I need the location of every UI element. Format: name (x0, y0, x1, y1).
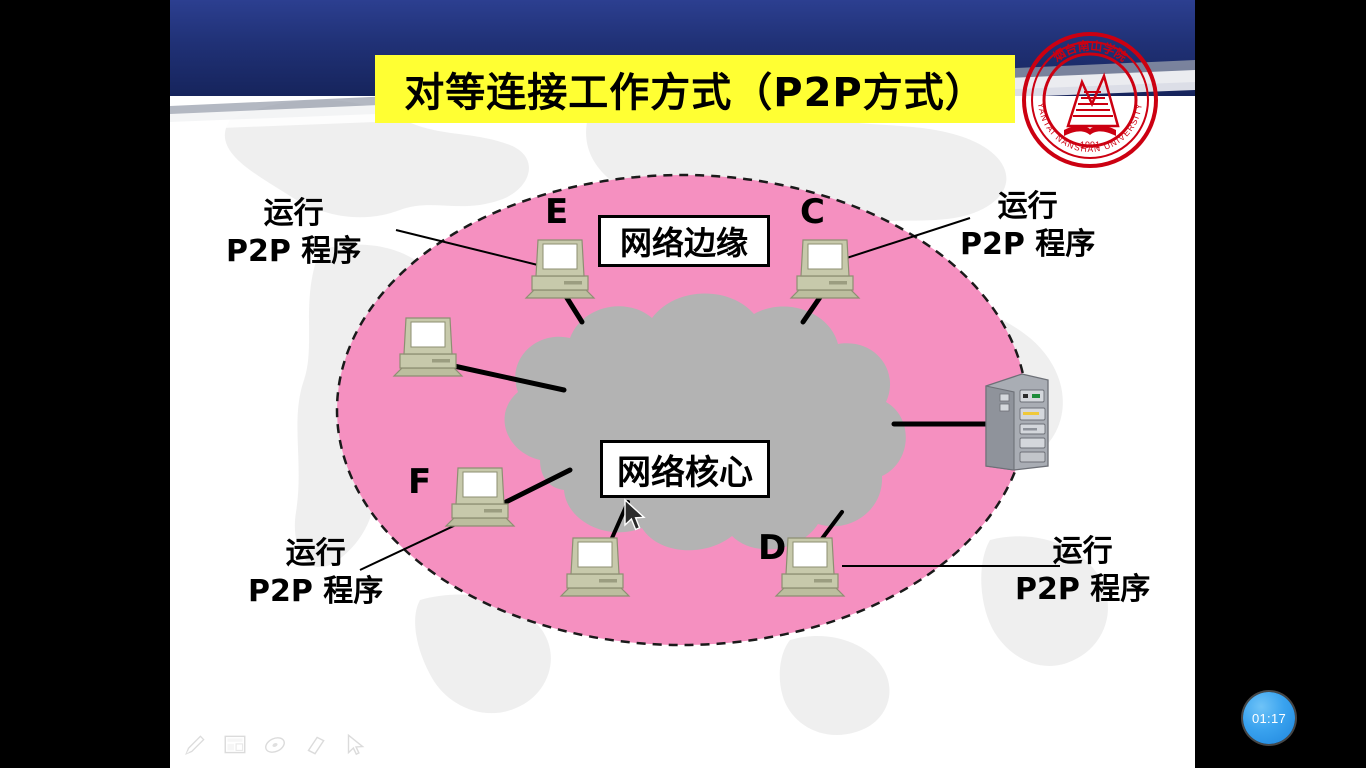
mouse-cursor-icon (622, 498, 648, 534)
callout-line-1: 运行 (960, 188, 1095, 226)
node-label-c: C (800, 192, 825, 232)
callout-line-1: 运行 (226, 195, 361, 233)
pen-icon[interactable] (180, 730, 210, 760)
presentation-slide: 对等连接工作方式（P2P方式） 1991 烟台南山学院 YANTAI NANSH… (170, 0, 1195, 768)
node-label-d: D (758, 528, 786, 568)
timer-value: 01:17 (1252, 711, 1286, 726)
callout-line-2: P2P 程序 (960, 226, 1095, 264)
node-label-f: F (408, 462, 431, 502)
callout-bottom-right: 运行 P2P 程序 (1015, 533, 1150, 610)
callout-top-left: 运行 P2P 程序 (226, 195, 361, 272)
callout-top-right: 运行 P2P 程序 (960, 188, 1095, 265)
network-edge-label: 网络边缘 (620, 218, 748, 264)
pointer-icon[interactable] (340, 730, 370, 760)
timer-badge[interactable]: 01:17 (1243, 692, 1295, 744)
whiteboard-icon[interactable] (220, 730, 250, 760)
network-core-label-box: 网络核心 (600, 440, 770, 498)
callout-line-2: P2P 程序 (248, 573, 383, 611)
network-core-label: 网络核心 (617, 445, 753, 494)
callout-line-2: P2P 程序 (226, 233, 361, 271)
highlighter-icon[interactable] (260, 730, 290, 760)
callout-line-2: P2P 程序 (1015, 571, 1150, 609)
node-label-e: E (545, 192, 568, 232)
eraser-icon[interactable] (300, 730, 330, 760)
callout-bottom-left: 运行 P2P 程序 (248, 535, 383, 612)
ink-toolbar[interactable] (180, 730, 370, 760)
callout-line-1: 运行 (1015, 533, 1150, 571)
node-server (986, 374, 1048, 470)
network-edge-label-box: 网络边缘 (598, 215, 770, 267)
screen-root: 对等连接工作方式（P2P方式） 1991 烟台南山学院 YANTAI NANSH… (0, 0, 1366, 768)
p2p-network-diagram (170, 0, 1195, 768)
callout-line-1: 运行 (248, 535, 383, 573)
